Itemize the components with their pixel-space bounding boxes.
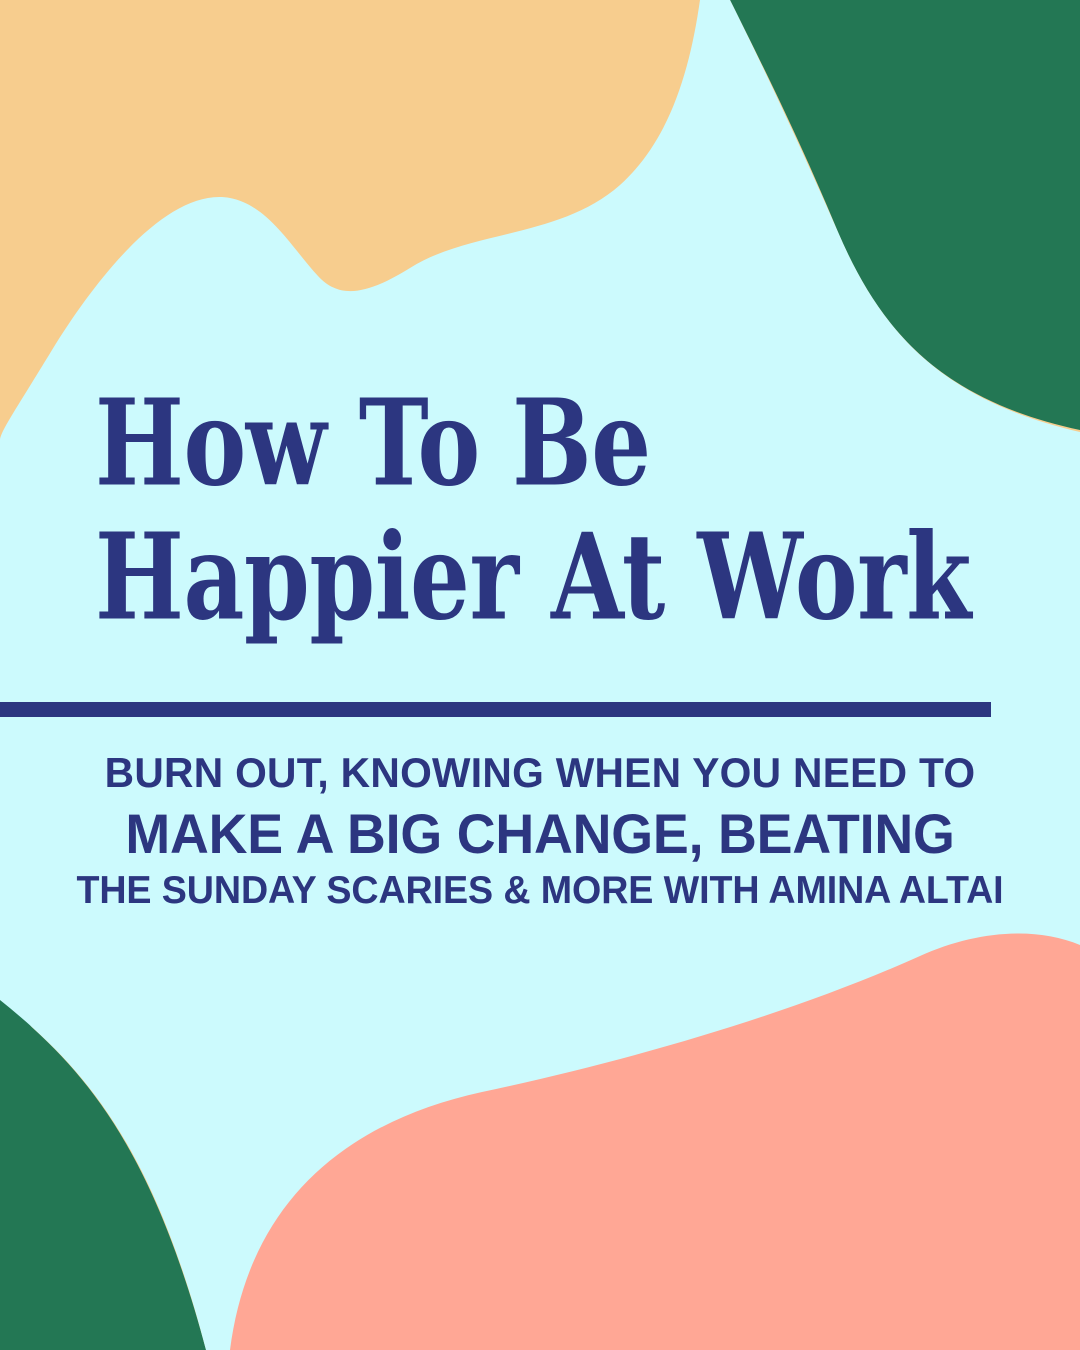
poster-content: How To Be Happier At Work BURN OUT, KNOW… bbox=[0, 0, 1080, 1350]
subtitle-line-3: THE SUNDAY SCARIES & MORE WITH AMINA ALT… bbox=[19, 871, 1061, 910]
title-line-2: Happier At Work bbox=[95, 519, 971, 638]
divider-rule bbox=[0, 702, 991, 717]
title-line-1: How To Be bbox=[95, 385, 651, 504]
subtitle-line-2: MAKE A BIG CHANGE, BEATING bbox=[22, 806, 1059, 862]
poster-canvas: How To Be Happier At Work BURN OUT, KNOW… bbox=[0, 0, 1080, 1350]
subtitle-line-1: BURN OUT, KNOWING WHEN YOU NEED TO bbox=[16, 752, 1064, 794]
subtitle-block: BURN OUT, KNOWING WHEN YOU NEED TO MAKE … bbox=[0, 752, 1080, 910]
